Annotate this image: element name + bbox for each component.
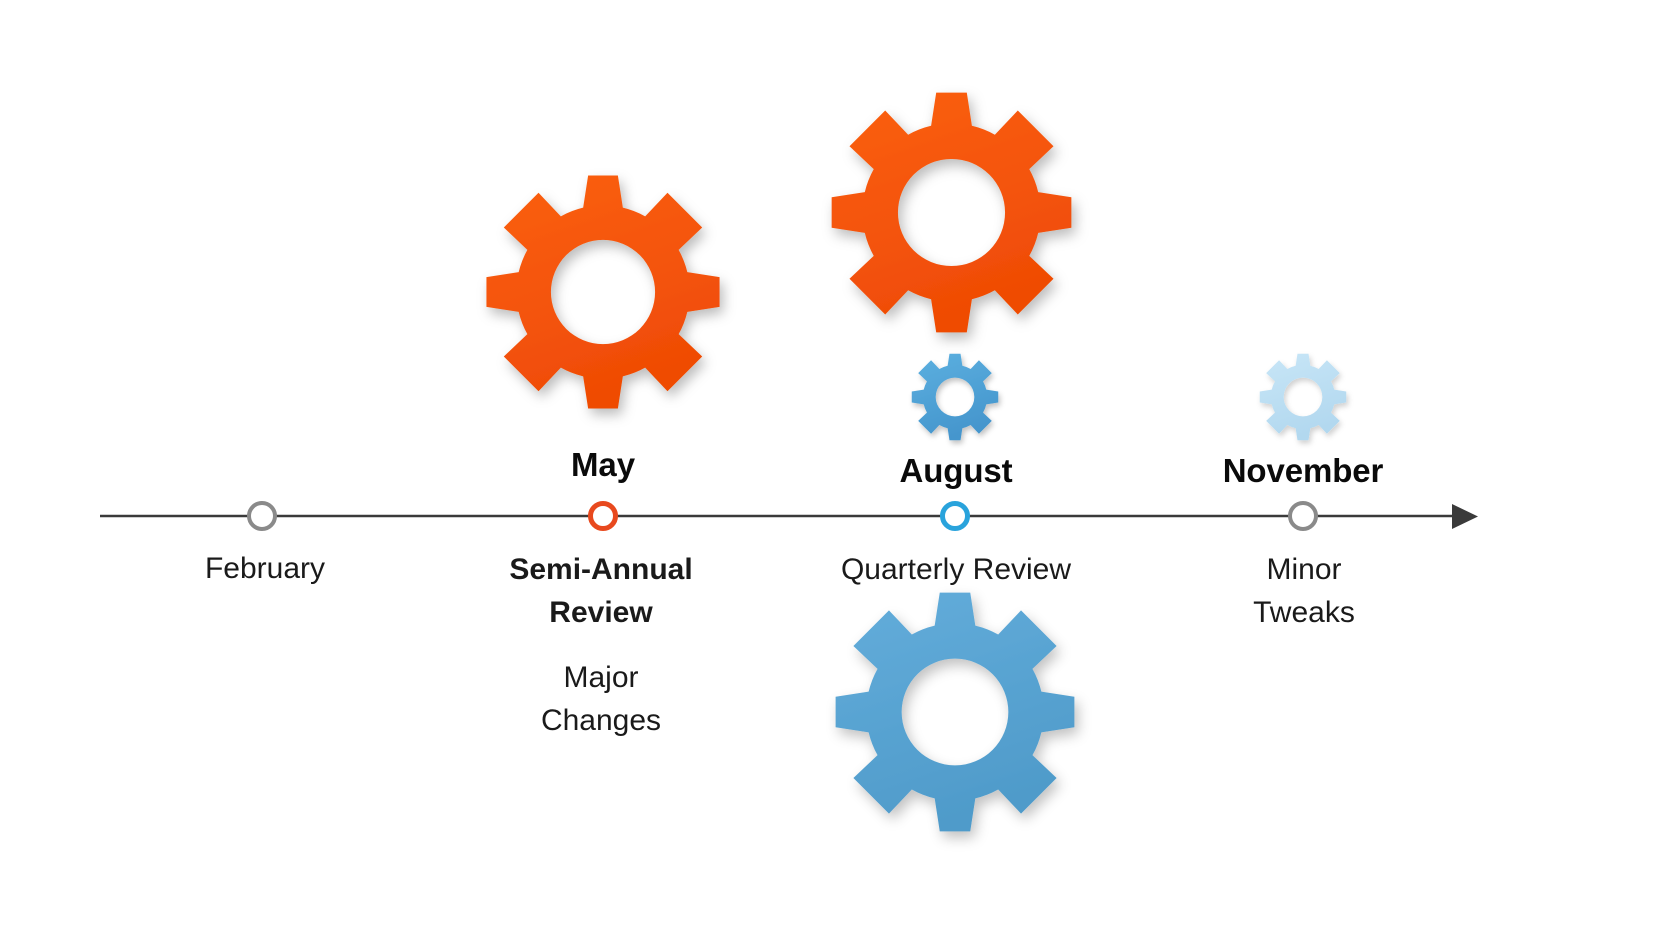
marker-february[interactable]: [247, 501, 277, 531]
august-description-line-1: Quarterly Review: [841, 549, 1071, 592]
may-month-label: May: [571, 446, 635, 484]
november-description-line-2: Tweaks: [1253, 592, 1355, 635]
november-description-label: Minor Tweaks: [1253, 549, 1355, 634]
gear-blue-small-icon: [909, 351, 1001, 443]
may-sub-label: Major Changes: [541, 657, 661, 742]
may-sub-line-1: Major: [541, 657, 661, 700]
marker-may[interactable]: [588, 501, 618, 531]
marker-august[interactable]: [940, 501, 970, 531]
timeline-diagram: February May Semi-Annual Review Major Ch…: [0, 0, 1666, 937]
gear-orange-large-icon: [479, 168, 727, 416]
may-sub-line-2: Changes: [541, 700, 661, 743]
timeline-axis: [0, 0, 1666, 937]
marker-november[interactable]: [1288, 501, 1318, 531]
gear-blue-large-icon: [828, 585, 1082, 839]
august-month-label: August: [899, 452, 1012, 490]
august-description-label: Quarterly Review: [841, 549, 1071, 592]
may-description-label: Semi-Annual Review: [509, 549, 692, 634]
february-month-label: February: [205, 548, 325, 591]
november-description-line-1: Minor: [1253, 549, 1355, 592]
gear-orange-top-icon: [824, 85, 1079, 340]
may-description-line-1: Semi-Annual: [509, 549, 692, 592]
may-description-line-2: Review: [509, 592, 692, 635]
november-month-label: November: [1223, 452, 1384, 490]
gear-blue-pale-icon: [1257, 351, 1349, 443]
